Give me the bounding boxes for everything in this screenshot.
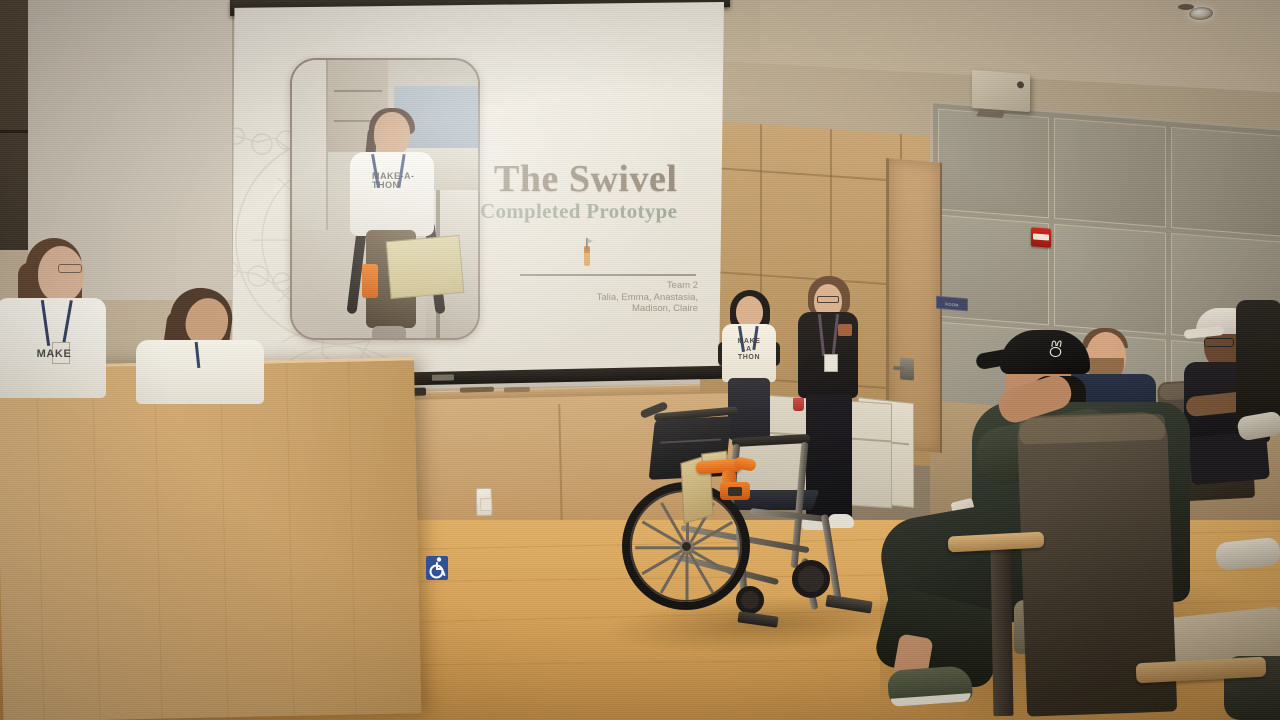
slide-members-line-1: Talia, Emma, Anastasia,: [512, 292, 698, 304]
light-switch[interactable]: [476, 488, 493, 516]
slide-team-credits: Team 2 Talia, Emma, Anastasia, Madison, …: [512, 280, 698, 315]
footplate: [825, 594, 872, 613]
photo-head: [374, 112, 410, 156]
fire-alarm-pull-station-icon[interactable]: [1031, 227, 1051, 248]
wall-panel: [1171, 127, 1280, 237]
armrest-front: [732, 434, 810, 447]
slide-title: The Swivel: [494, 160, 694, 198]
marker-icon: [460, 387, 494, 393]
photo-person-in-wheelchair: MAKE-A-THON: [344, 112, 440, 340]
seat-support-post: [991, 546, 1014, 716]
prototype-flag-icon: [578, 238, 596, 268]
id-badge: [824, 354, 838, 372]
legs: [1188, 431, 1270, 486]
wall-speaker-icon: [972, 70, 1030, 112]
podium: [0, 357, 421, 720]
photo-swivel-tray: [386, 235, 465, 299]
audience-leg: [1236, 300, 1280, 430]
wheelchair-prototype: [610, 408, 910, 648]
glasses-icon: [58, 264, 82, 273]
slide-divider: [520, 274, 696, 276]
wheel-hub: [680, 540, 693, 553]
presenter-1: MAKE: [2, 238, 122, 388]
photo-doorway: [292, 60, 328, 230]
glasses-icon: [1204, 338, 1234, 347]
jacket-logo-icon: [838, 324, 852, 336]
bunny-logo-icon: [1048, 340, 1064, 358]
shirt-text-makeathon: MAKEATHON: [730, 338, 768, 362]
glasses-icon: [817, 296, 839, 303]
ceiling-vent-icon: [1178, 4, 1194, 10]
head: [38, 246, 84, 302]
torso-tshirt: [136, 340, 264, 404]
presenter-2: [140, 286, 268, 396]
projection-screen: MAKE-A-THON The Swivel Completed Prototy…: [232, 2, 724, 390]
sneaker: [887, 665, 973, 707]
swivel-clamp: [720, 482, 750, 500]
photo-shoe: [372, 326, 406, 340]
footplate: [737, 611, 778, 627]
baseball-cap-icon: [1000, 330, 1090, 374]
slide-photo: MAKE-A-THON: [290, 58, 480, 340]
wheelchair-accessible-icon: [426, 556, 448, 580]
front-castor-large: [792, 560, 830, 598]
photo-tshirt: [350, 152, 434, 236]
photo-orange-mount: [362, 264, 378, 298]
frame-tube: [750, 508, 826, 522]
front-castor-small: [736, 586, 764, 614]
orange-swivel-mount: [696, 456, 758, 498]
slide-subtitle: Completed Prototype: [480, 200, 710, 222]
photo-shirt-text: MAKE-A-THON: [372, 172, 440, 190]
slide-surface: MAKE-A-THON The Swivel Completed Prototy…: [232, 2, 724, 390]
wall-panel: [1054, 118, 1165, 228]
presentation-room-photo: ROOM: [0, 0, 1280, 720]
slide-members-line-2: Madison, Claire: [512, 303, 698, 315]
slide-team-label: Team 2: [512, 280, 698, 292]
wall-panel: [938, 109, 1049, 219]
shirt-text: MAKE: [24, 350, 84, 358]
marker-icon: [504, 387, 530, 393]
